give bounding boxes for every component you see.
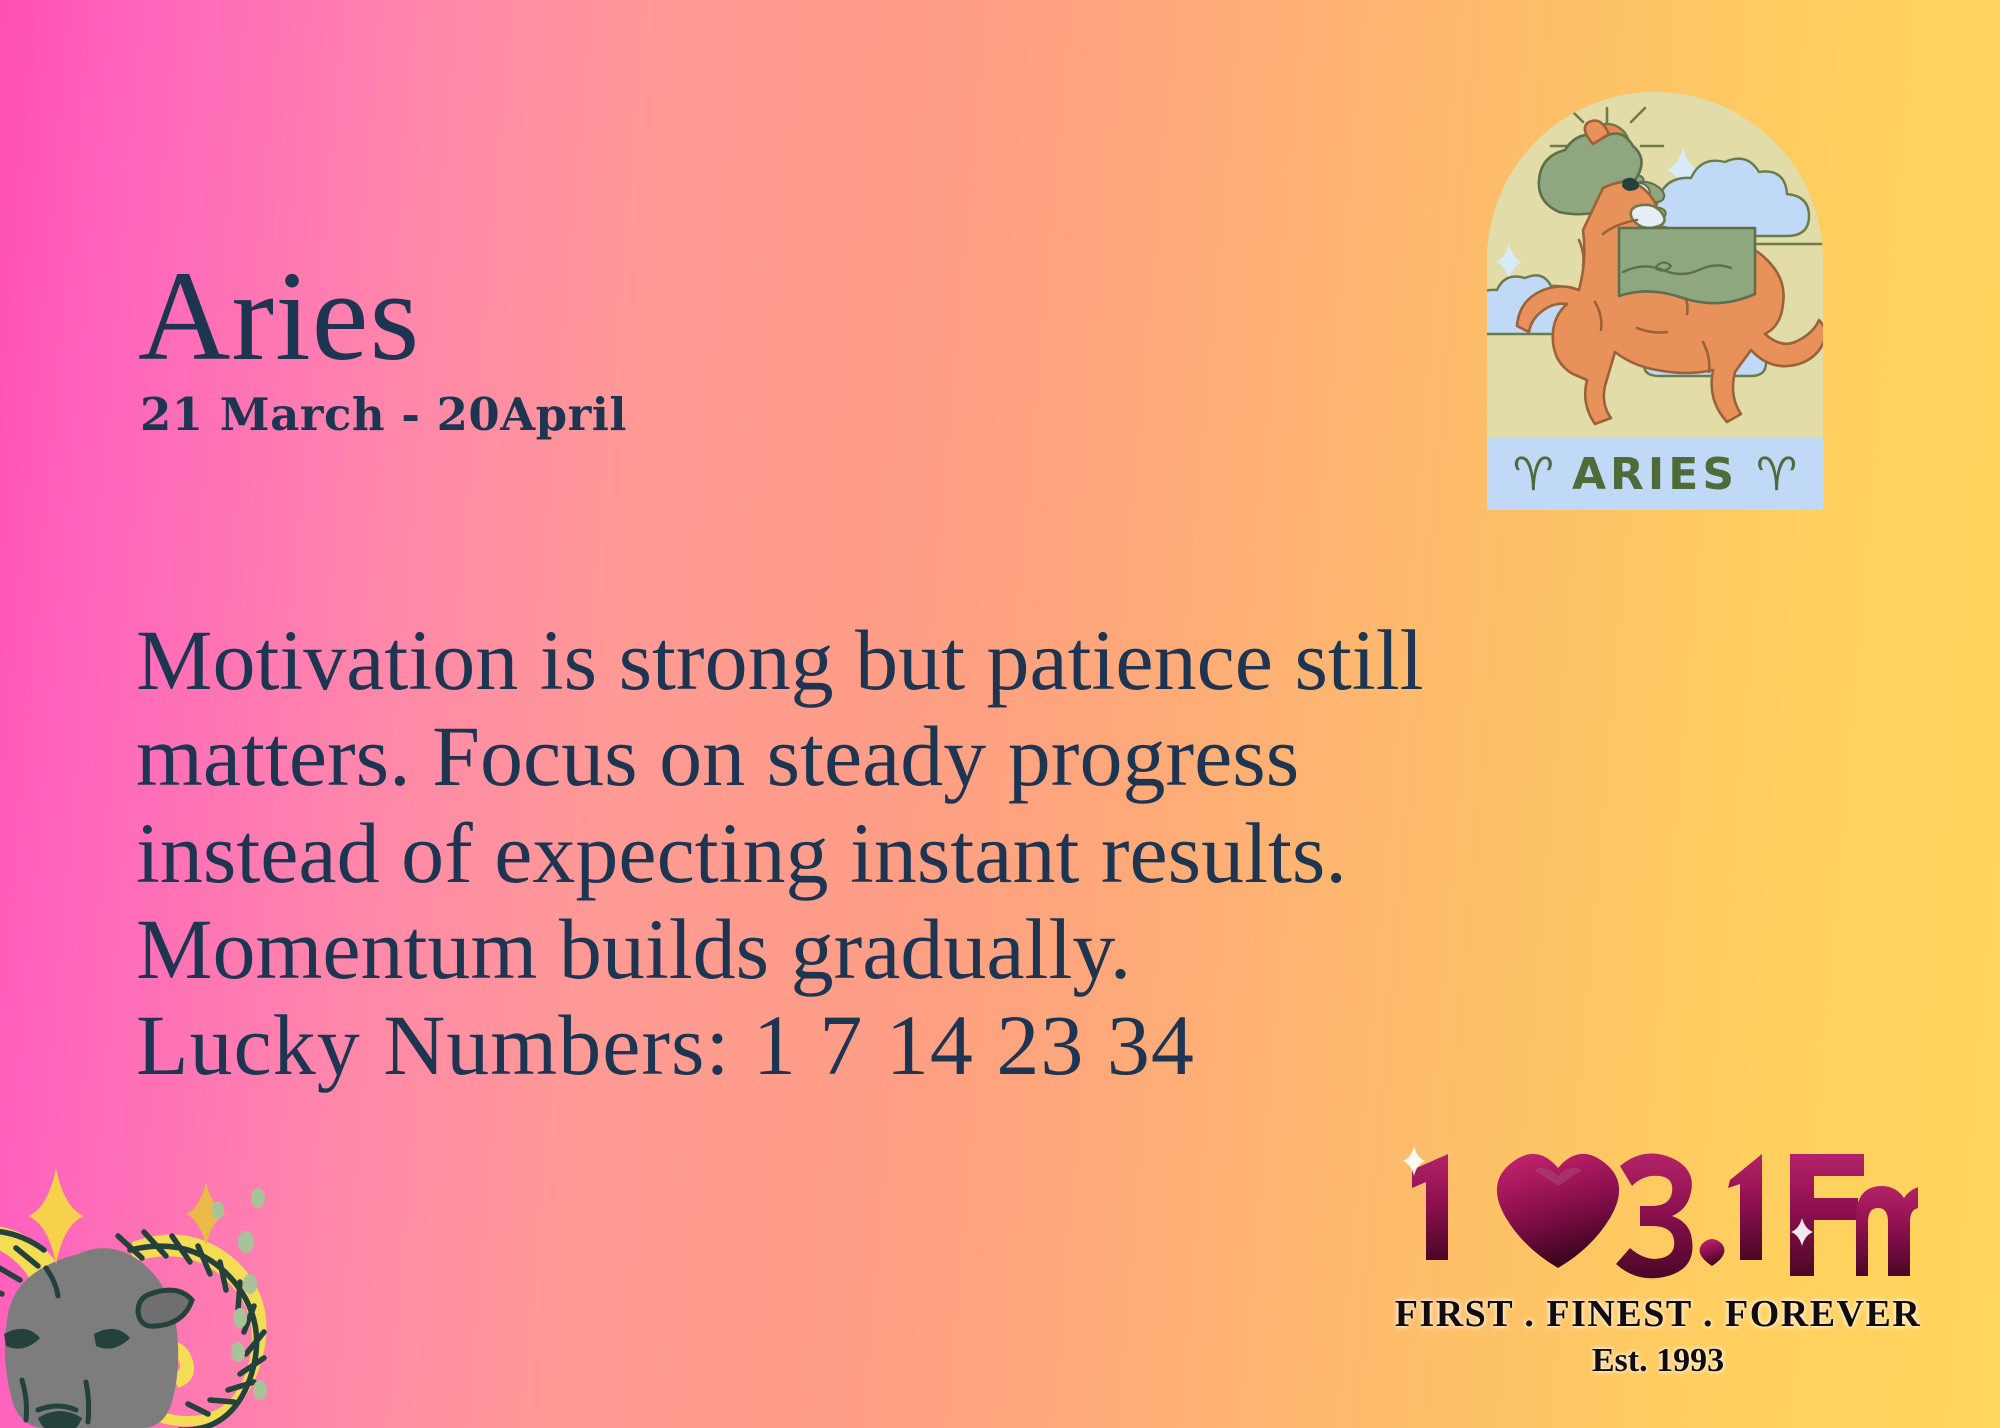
ram-eyes	[4, 1329, 130, 1349]
badge-label: ARIES	[1572, 449, 1738, 500]
ram-ear	[138, 1290, 192, 1326]
sparkle-icon	[28, 1168, 226, 1264]
heart-icon	[1497, 1154, 1619, 1268]
badge-label-band: ♈ ARIES ♈	[1487, 438, 1823, 510]
digit-three	[1616, 1154, 1693, 1279]
ram-head	[5, 1248, 178, 1428]
reading-line-4: Momentum builds gradually.	[136, 901, 1436, 997]
aries-zodiac-badge: ♈ ARIES ♈	[1487, 92, 1823, 510]
letter-f	[1790, 1154, 1864, 1276]
103-1-fm-mark	[1398, 1140, 1918, 1290]
decimal-point	[1700, 1239, 1725, 1266]
horn-ridges	[0, 1231, 264, 1428]
logo-established: Est. 1993	[1378, 1342, 1938, 1380]
ram-nose	[38, 1411, 82, 1428]
aries-horoscope-card: Aries 21 March - 20April Motivation is s…	[0, 0, 2000, 1428]
ram-blanket	[1619, 228, 1755, 303]
decorative-dots	[212, 1188, 267, 1400]
letter-m	[1856, 1186, 1918, 1276]
aries-glyph-left-icon: ♈	[1513, 451, 1554, 497]
lucky-numbers-line: Lucky Numbers: 1 7 14 23 34	[136, 997, 1436, 1093]
ram-horns	[0, 1225, 266, 1426]
page-title: Aries	[138, 252, 420, 380]
logo-wordmark	[1378, 1140, 1938, 1290]
logo-tagline: FIRST . FINEST . FOREVER	[1378, 1292, 1938, 1336]
ram-face-lines	[22, 1268, 89, 1422]
digit-one	[1412, 1154, 1448, 1260]
station-logo: FIRST . FINEST . FOREVER Est. 1993	[1378, 1140, 1938, 1408]
reading-line-3: instead of expecting instant results.	[136, 805, 1436, 901]
ram-illustration	[1517, 121, 1823, 425]
reading-line-2: matters. Focus on steady progress	[136, 708, 1436, 804]
digit-one-second	[1728, 1154, 1762, 1260]
aries-glyph-right-icon: ♈	[1756, 451, 1797, 497]
reading-line-1: Motivation is strong but patience still	[136, 612, 1436, 708]
horoscope-reading: Motivation is strong but patience still …	[136, 612, 1436, 1094]
sign-date-range: 21 March - 20April	[140, 392, 627, 437]
ram-head-illustration	[0, 1138, 422, 1428]
